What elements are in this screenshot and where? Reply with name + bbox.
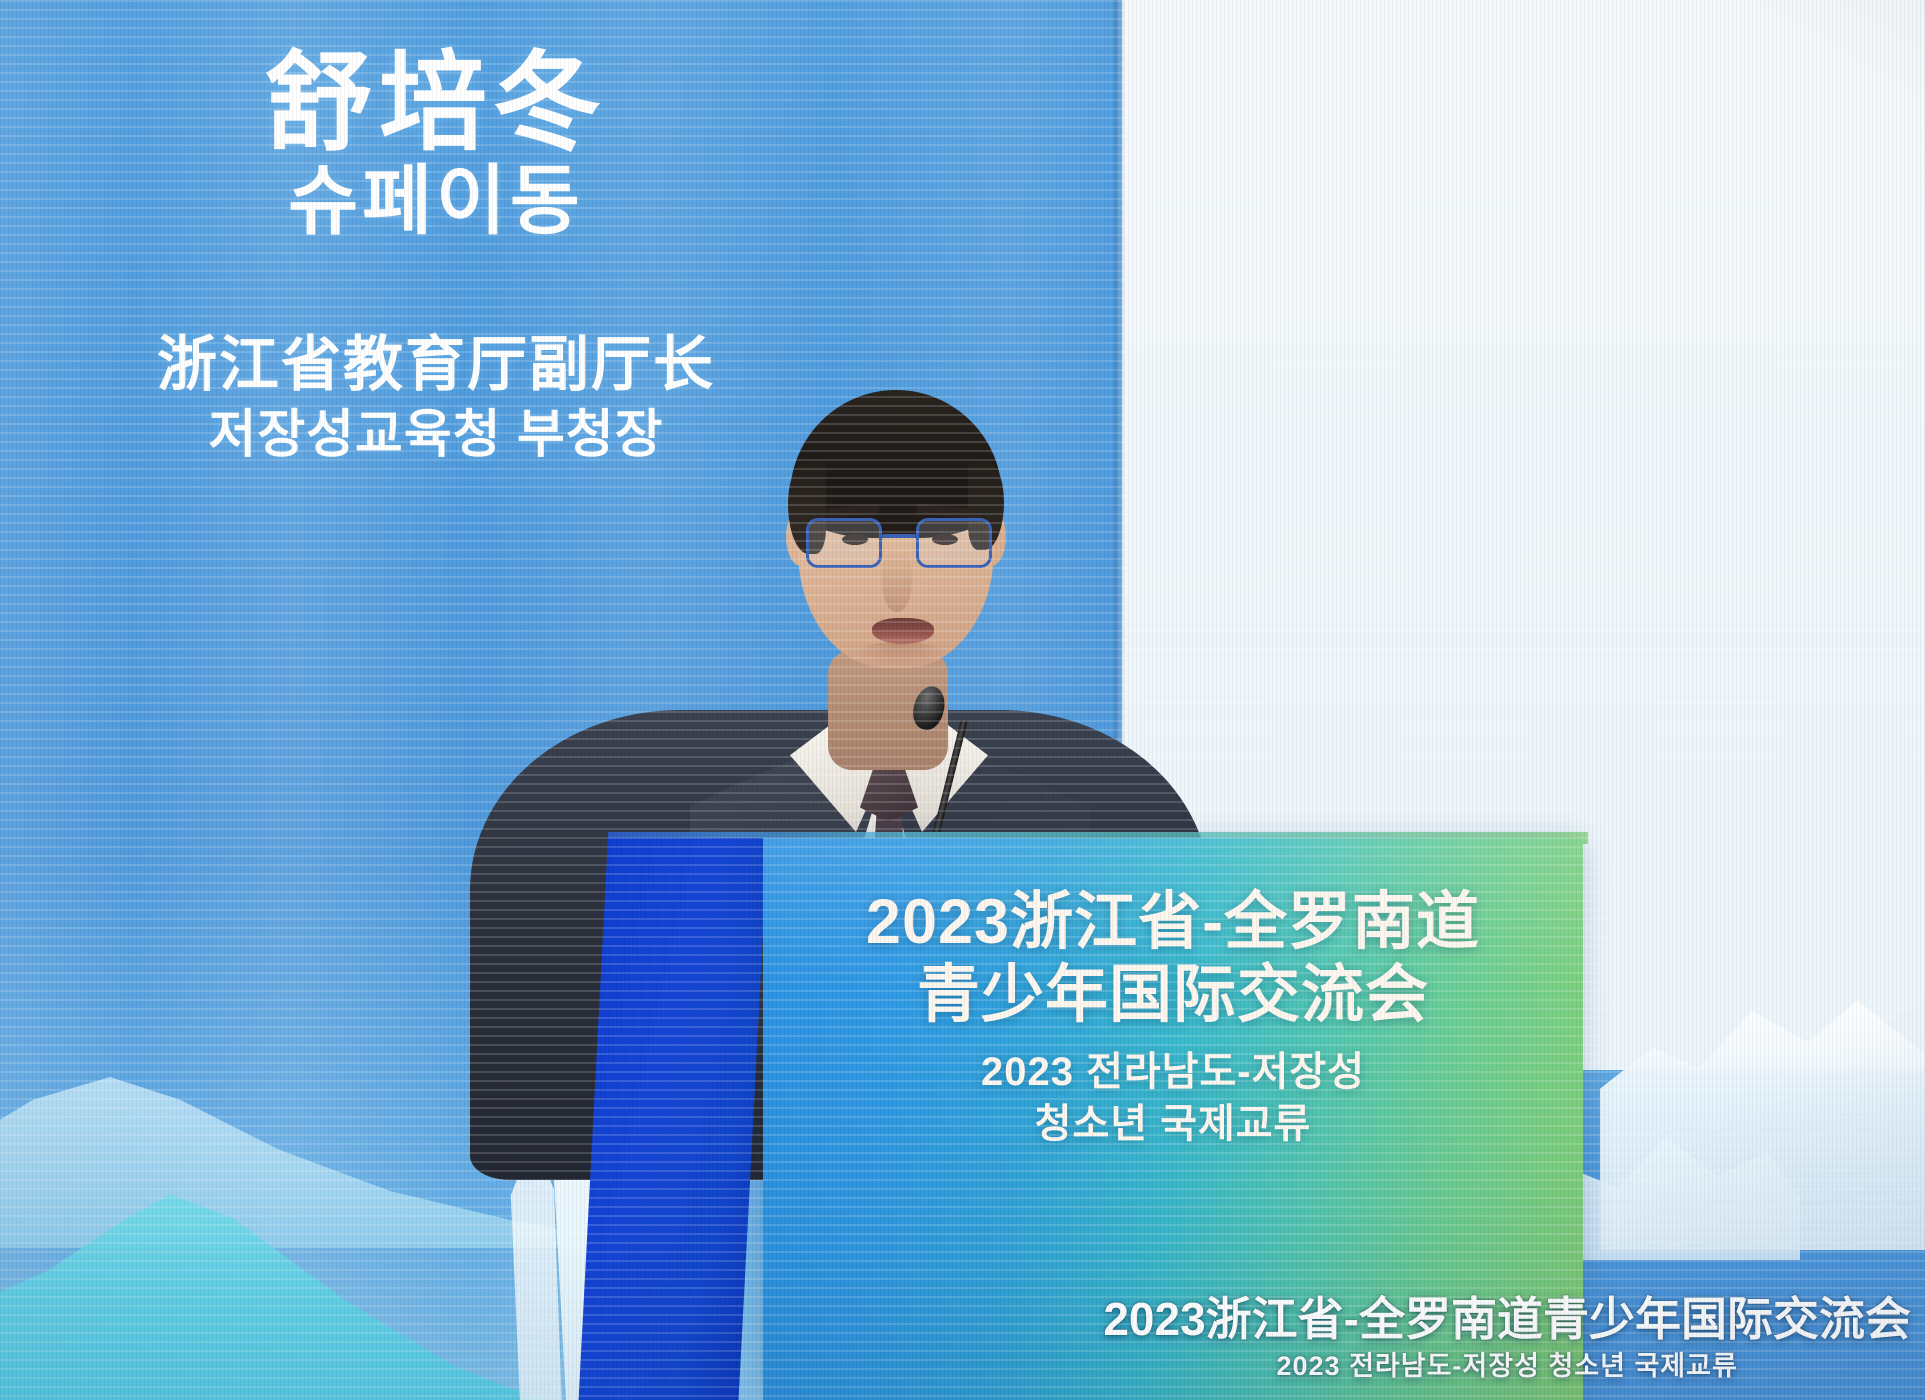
nose (882, 550, 912, 612)
speaker-name-korean: 슈페이동 (96, 158, 776, 245)
eyeglass-lens-left (806, 518, 882, 568)
mouth-open-speaking (872, 618, 934, 644)
event-watermark-overlay: 2023浙江省-全罗南道青少年国际交流会 2023 전라남도-저장성 청소년 국… (1103, 1294, 1911, 1382)
watermark-korean: 2023 전라남도-저장성 청소년 국제교류 (1103, 1351, 1911, 1382)
podium-title-chinese-line1: 2023浙江省-全罗南道 (763, 886, 1583, 959)
podium-title-korean-line2: 청소년 국제교류 (763, 1100, 1583, 1148)
chin-shadow (850, 642, 950, 668)
podium-title-korean-line1: 2023 전라남도-저장성 (763, 1048, 1583, 1096)
speaker-name-chinese: 舒培冬 (96, 48, 776, 158)
watermark-chinese: 2023浙江省-全罗南道青少年国际交流会 (1103, 1294, 1911, 1345)
podium-title-chinese-line2: 青少年国际交流会 (763, 959, 1583, 1032)
eyeglass-lens-right (916, 518, 992, 568)
photo-scene: 舒培冬 슈페이동 浙江省教育厅副厅长 저장성교육청 부청장 (0, 0, 1925, 1400)
eyeglass-bridge (882, 534, 916, 538)
podium-side-panel (579, 838, 768, 1400)
podium-event-title: 2023浙江省-全罗南道 青少年国际交流会 2023 전라남도-저장성 청소년 … (763, 886, 1583, 1148)
